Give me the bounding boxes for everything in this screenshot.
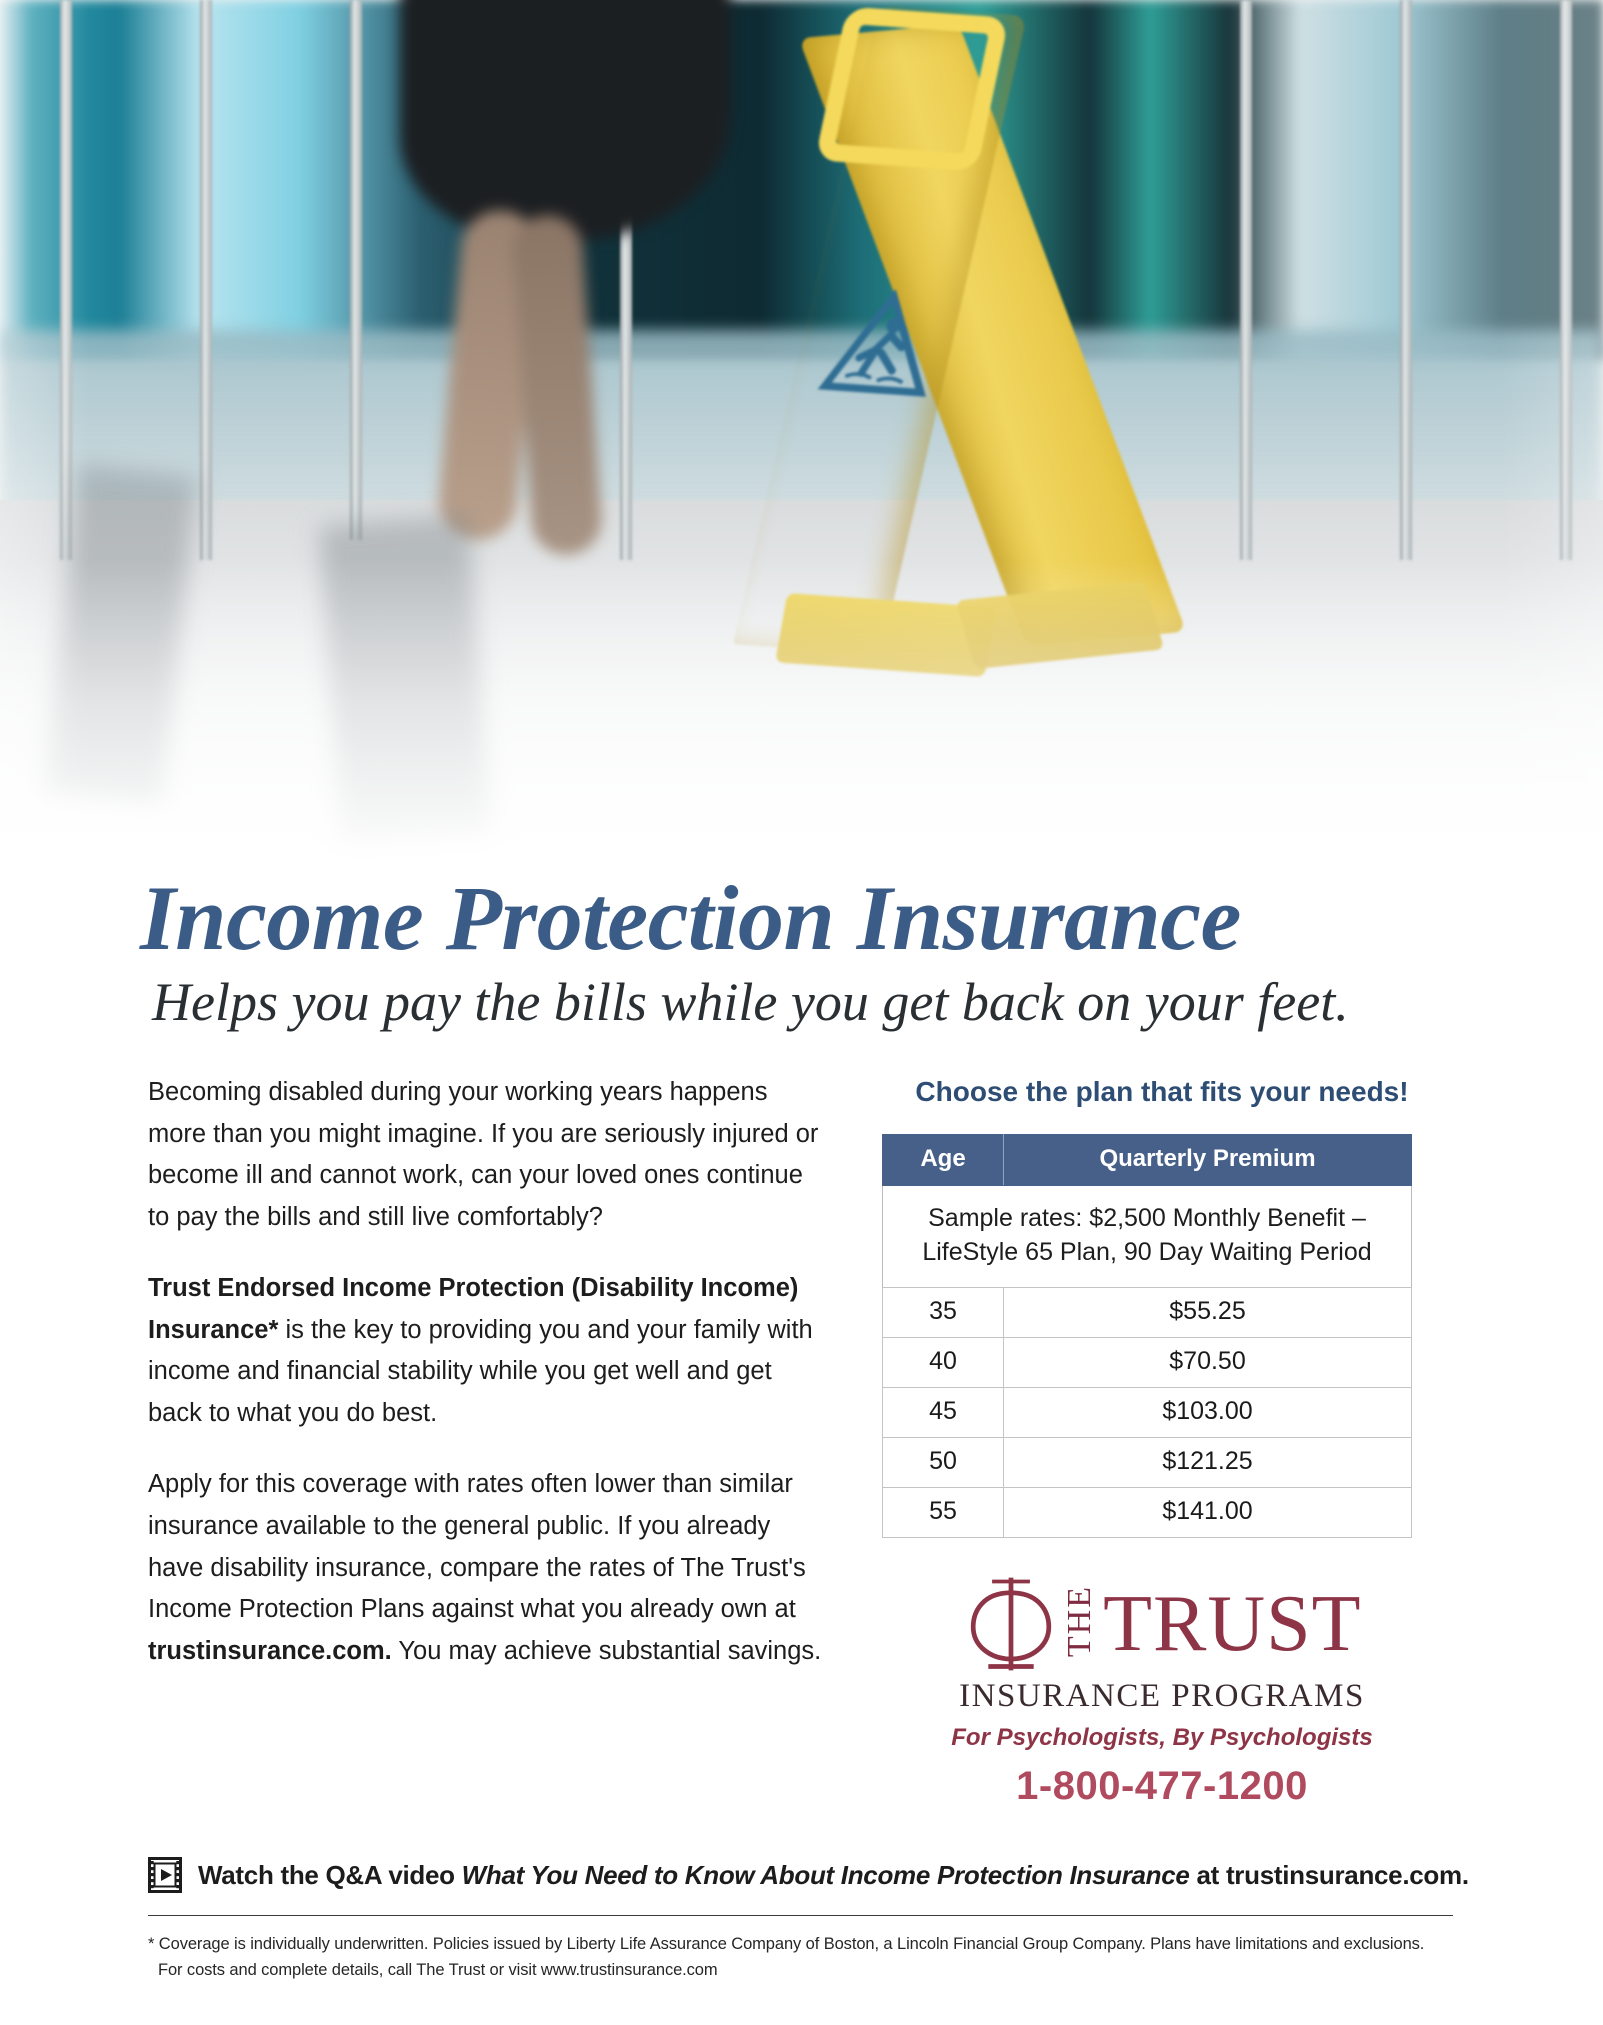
footnote-divider [148,1915,1453,1916]
paragraph-intro: Becoming disabled during your working ye… [148,1072,828,1238]
psi-icon [963,1572,1059,1676]
footnote: * Coverage is individually underwritten.… [148,1932,1453,1983]
logo-wordmark-row: THE TRUST [882,1572,1442,1676]
video-title: What You Need to Know About Income Prote… [462,1860,1190,1890]
cell-premium: $103.00 [1004,1388,1412,1438]
table-caption: Sample rates: $2,500 Monthly Benefit – L… [883,1185,1412,1288]
photo-bottom-fade [0,560,1603,880]
page-subtitle: Helps you pay the bills while you get ba… [152,973,1603,1032]
sample-rates-table: Sample rates: $2,500 Monthly Benefit – L… [882,1134,1412,1539]
logo-subtitle: INSURANCE PROGRAMS [882,1678,1442,1715]
table-row: 45 $103.00 [883,1388,1412,1438]
content-area: Income Protection Insurance Helps you pa… [0,870,1603,1984]
video-prefix: Watch the Q&A video [198,1860,462,1890]
cell-premium: $121.25 [1004,1438,1412,1488]
apply-text-start: Apply for this coverage with rates often… [148,1470,806,1623]
table-header-row: Age Quarterly Premium [883,1134,1412,1185]
logo-trust: TRUST [1103,1588,1361,1662]
film-play-icon [148,1857,182,1893]
paragraph-apply: Apply for this coverage with rates often… [148,1464,828,1672]
right-column: Choose the plan that fits your needs! Sa… [882,1072,1442,1810]
website-link[interactable]: trustinsurance.com. [148,1637,392,1665]
video-cta-text: Watch the Q&A video What You Need to Kno… [198,1860,1469,1891]
column-header-age: Age [883,1134,1004,1185]
hero-photo [0,0,1603,880]
footnote-line-2: For costs and complete details, call The… [148,1958,1453,1984]
two-column-layout: Becoming disabled during your working ye… [0,1072,1603,1810]
cell-premium: $55.25 [1004,1288,1412,1338]
cell-age: 50 [883,1438,1004,1488]
logo-tagline: For Psychologists, By Psychologists [882,1724,1442,1752]
footnote-line-1: * Coverage is individually underwritten.… [148,1935,1424,1953]
logo-the: THE [1065,1585,1096,1657]
cell-age: 35 [883,1288,1004,1338]
page-title: Income Protection Insurance [140,870,1603,967]
video-suffix: at trustinsurance.com. [1190,1860,1469,1890]
table-header: Age Quarterly Premium [883,1134,1412,1185]
cell-age: 55 [883,1488,1004,1538]
cell-age: 45 [883,1388,1004,1438]
table-row: 50 $121.25 [883,1438,1412,1488]
phone-number[interactable]: 1-800-477-1200 [882,1764,1442,1809]
table-body: 35 $55.25 40 $70.50 45 $103.00 50 $121.2… [883,1288,1412,1538]
trust-logo: THE TRUST INSURANCE PROGRAMS For Psychol… [882,1572,1442,1809]
caption-line-1: Sample rates: $2,500 Monthly Benefit – [928,1204,1366,1232]
left-column: Becoming disabled during your working ye… [148,1072,828,1702]
cell-premium: $70.50 [1004,1338,1412,1388]
cell-premium: $141.00 [1004,1488,1412,1538]
column-header-premium: Quarterly Premium [1004,1134,1412,1185]
table-caption-row: Sample rates: $2,500 Monthly Benefit – L… [883,1185,1412,1288]
table-row: 55 $141.00 [883,1488,1412,1538]
cell-age: 40 [883,1338,1004,1388]
caption-line-2: LifeStyle 65 Plan, 90 Day Waiting Period [922,1238,1371,1266]
video-cta[interactable]: Watch the Q&A video What You Need to Kno… [148,1857,1603,1893]
paragraph-product: Trust Endorsed Income Protection (Disabi… [148,1268,828,1434]
apply-text-end: You may achieve substantial savings. [392,1637,822,1665]
plan-panel-heading: Choose the plan that fits your needs! [882,1076,1442,1108]
table-row: 40 $70.50 [883,1338,1412,1388]
table-row: 35 $55.25 [883,1288,1412,1338]
